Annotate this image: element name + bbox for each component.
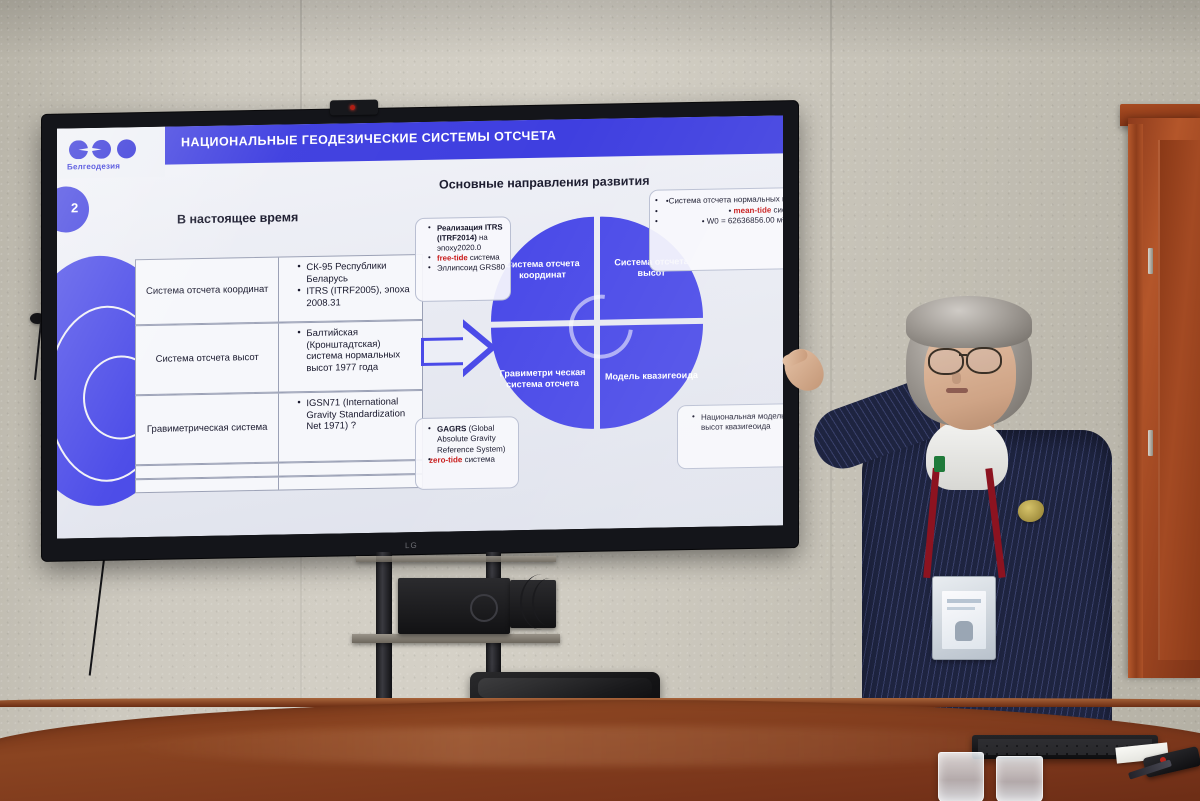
- callout-bottom-left: GAGRS (Global Absolute Gravity Reference…: [415, 416, 519, 490]
- id-badge-line: [947, 607, 975, 610]
- list-item: ITRS (ITRF2005), эпоха 2008.31: [298, 284, 418, 309]
- tv-display[interactable]: НАЦИОНАЛЬНЫЕ ГЕОДЕЗИЧЕСКИЕ СИСТЕМЫ ОТСЧЕ…: [42, 101, 798, 561]
- callout-list: •Система отсчета нормальных высот • mean…: [656, 194, 783, 228]
- list-item: Эллипсоид GRS80: [429, 262, 505, 273]
- equipment-shelf: [352, 634, 560, 643]
- water-glass[interactable]: [996, 756, 1043, 801]
- lanyard-clip-icon: [934, 456, 945, 472]
- list-item: zero-tide система: [429, 454, 514, 466]
- presenter-nose: [952, 372, 961, 384]
- callout-top-right: •Система отсчета нормальных высот • mean…: [649, 187, 783, 272]
- ceiling-shadow: [0, 0, 1200, 60]
- id-badge[interactable]: [932, 576, 996, 660]
- right-section-heading: Основные направления развития: [439, 174, 650, 192]
- eyeglasses-left-icon: [928, 348, 964, 375]
- logo-text: Белгеодезия: [67, 161, 120, 171]
- table-row-label: Система отсчета высот: [136, 324, 279, 395]
- id-badge-photo: [955, 621, 973, 641]
- callout-list: Национальная модель высот квазигеоида: [684, 411, 783, 434]
- tv-screen: НАЦИОНАЛЬНЫЕ ГЕОДЕЗИЧЕСКИЕ СИСТЕМЫ ОТСЧЕ…: [57, 115, 783, 538]
- list-item: Балтийская (Кронштадтская) система норма…: [298, 326, 418, 375]
- tv-brand-label: LG: [405, 541, 418, 550]
- presentation-slide: НАЦИОНАЛЬНЫЕ ГЕОДЕЗИЧЕСКИЕ СИСТЕМЫ ОТСЧЕ…: [57, 115, 783, 538]
- presenter-mouth: [946, 388, 968, 393]
- callout-list: GAGRS (Global Absolute Gravity Reference…: [420, 423, 514, 466]
- chair-highlight: [478, 678, 652, 698]
- list-item: Национальная модель высот квазигеоида: [693, 411, 783, 434]
- left-section-heading: В настоящее время: [177, 210, 298, 226]
- list-item: СК-95 Республики Беларусь: [298, 260, 418, 285]
- wall-seam: [830, 0, 832, 801]
- table-row: Система отсчета высот Балтийская (Кроншт…: [135, 320, 423, 395]
- table-cell: [136, 478, 279, 493]
- callout-bottom-right: Национальная модель высот квазигеоида: [677, 403, 783, 469]
- table-row-bullets: СК-95 Республики Беларусь ITRS (ITRF2005…: [279, 255, 422, 322]
- list-item: Реализация ITRS (ITRF2014) на эпоху2020.…: [429, 222, 505, 253]
- table-row-bullets: IGSN71 (International Gravity Standardiz…: [279, 391, 422, 462]
- table-row: Гравиметрическая система IGSN71 (Interna…: [135, 390, 423, 465]
- cables: [532, 578, 568, 626]
- logo-shape-right-icon: [117, 139, 136, 158]
- table-row: Система отсчета координат СК-95 Республи…: [135, 254, 423, 325]
- door-hinge: [1148, 248, 1153, 274]
- list-item: IGSN71 (International Gravity Standardiz…: [298, 396, 418, 433]
- callout-list: Реализация ITRS (ITRF2014) на эпоху2020.…: [420, 222, 505, 273]
- table-row-label: Гравиметрическая система: [136, 394, 279, 465]
- device-fan-icon: [470, 594, 498, 622]
- door-panel: [1158, 140, 1200, 660]
- company-logo: Белгеодезия: [57, 127, 165, 179]
- list-item: GAGRS (Global Absolute Gravity Reference…: [429, 423, 514, 456]
- presenter-hair-top: [906, 296, 1032, 348]
- table-row-bullets: Балтийская (Кронштадтская) система норма…: [279, 321, 422, 392]
- table-row-label: Система отсчета координат: [136, 258, 279, 325]
- id-badge-line: [947, 599, 981, 603]
- table-cell: [279, 475, 422, 490]
- list-item: • W0 = 62636856.00 м²/сек.²: [656, 215, 783, 228]
- slide-page-number: 2: [71, 200, 78, 215]
- eyeglasses-right-icon: [966, 347, 1002, 374]
- door-hinge: [1148, 430, 1153, 456]
- callout-top-left: Реализация ITRS (ITRF2014) на эпоху2020.…: [415, 216, 511, 302]
- equipment-shelf-top: [356, 556, 556, 562]
- logo-shape-mid-icon: [92, 140, 111, 159]
- eyeglasses-bridge-icon: [959, 354, 967, 356]
- water-glass[interactable]: [938, 752, 984, 801]
- transition-arrow-head-inner: [463, 327, 488, 369]
- logo-shape-left-icon: [69, 140, 88, 159]
- door-casing: [1128, 124, 1143, 678]
- screenshot-root: НАЦИОНАЛЬНЫЕ ГЕОДЕЗИЧЕСКИЕ СИСТЕМЫ ОТСЧЕ…: [0, 0, 1200, 801]
